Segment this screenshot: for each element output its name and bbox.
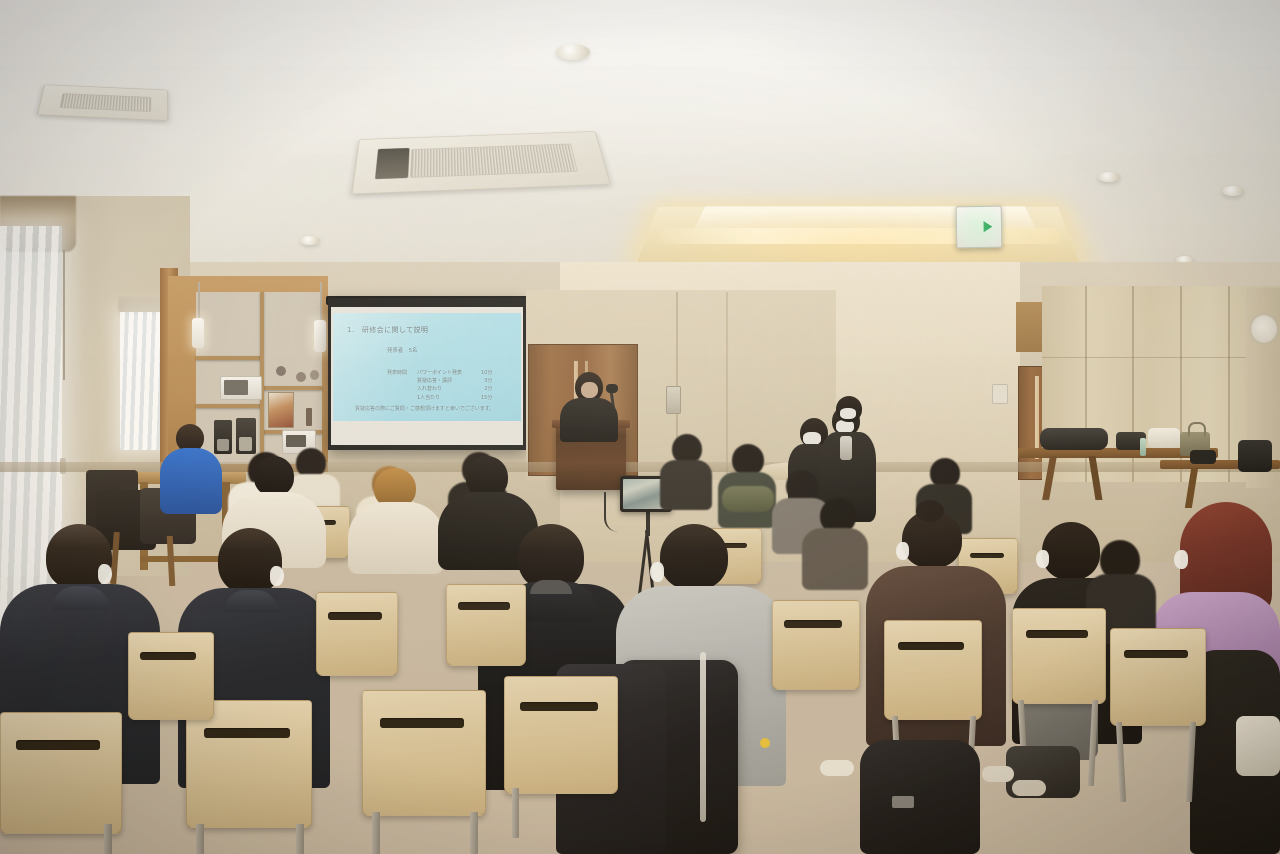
kitchenette-shelf — [196, 356, 262, 360]
audience-shawl-olive — [722, 486, 774, 512]
tote-handle — [1188, 422, 1206, 436]
white-cloth-on-bench — [1148, 428, 1180, 448]
standing-staff-2-shirt — [840, 436, 852, 460]
audience-mask-suit-2 — [270, 566, 284, 586]
chair-front-3-leg — [372, 812, 380, 854]
pendant-light-shade — [192, 318, 204, 348]
ceiling-spotlight — [300, 236, 320, 245]
backpack-strap-white — [700, 652, 706, 822]
person-blue-body — [160, 448, 222, 514]
standing-staff-3-mask — [840, 408, 856, 419]
ceramic-jar — [296, 372, 306, 382]
ceramic-jar — [276, 366, 286, 376]
audience-mask-bun — [896, 542, 909, 560]
white-handbag — [1236, 716, 1280, 776]
black-jacket-on-bench — [1040, 428, 1108, 450]
ceiling-ac-unit-large — [351, 131, 611, 194]
chair-front-2-leg — [296, 824, 304, 854]
microwave — [220, 376, 262, 400]
water-bottle — [1140, 438, 1146, 456]
wall-seam — [726, 292, 728, 480]
grey-collar — [664, 586, 724, 608]
audience-body-back — [802, 528, 868, 590]
presenter-body — [560, 398, 618, 442]
light-switch-plate[interactable] — [992, 384, 1008, 404]
photo-scene: 1. 研修会に関して説明 発表者 5名 発表時間 パワーポイント発表 質疑応答・… — [0, 0, 1280, 854]
pendant-light-cord — [198, 282, 200, 320]
chair-front-3-leg — [470, 812, 478, 854]
tripod-column — [646, 508, 650, 536]
pendant-light-cord — [320, 282, 322, 322]
ceiling-spotlight — [1098, 172, 1120, 182]
shelf-bottle — [306, 408, 312, 426]
kitchenette-shelf — [196, 404, 262, 408]
backpack-floor-left — [860, 740, 980, 854]
ceiling-ac-unit-left — [37, 84, 169, 121]
chair-front-2-leg — [196, 824, 204, 854]
audience-mask-grey — [650, 562, 664, 582]
coffee-maker-1 — [214, 420, 232, 454]
shelf-poster — [268, 392, 294, 428]
tablet-cable — [604, 492, 624, 532]
hoodie-collar-grey — [530, 580, 572, 594]
wall-intercom[interactable] — [666, 386, 681, 414]
microphone-head — [606, 384, 618, 393]
audience-head-cream — [254, 456, 294, 496]
audience-body-brownhair — [348, 502, 444, 574]
shoe — [1012, 780, 1046, 796]
ceiling-spotlight — [556, 44, 590, 60]
backpack-zip-pull — [760, 738, 770, 748]
shoe — [982, 766, 1014, 782]
hair-bun — [916, 500, 944, 522]
audience-mask-suit-1 — [98, 564, 112, 584]
dark-bag-on-bench — [1190, 450, 1216, 464]
counter-stretcher — [140, 556, 226, 562]
curtain-pull-cord — [63, 250, 65, 380]
ceiling-spotlight — [1222, 186, 1244, 196]
black-backpack-on-bench — [1238, 440, 1272, 472]
coffee-maker-2 — [236, 418, 256, 454]
audience-body-back — [660, 460, 712, 510]
presenter-face — [581, 382, 598, 398]
ceramic-jar — [310, 370, 319, 380]
pendant-light-shade — [314, 320, 326, 352]
chair-front-4-leg — [512, 788, 519, 838]
chair-front-1-leg — [104, 824, 112, 854]
shoe — [820, 760, 854, 776]
exit-sign-primary-glow — [950, 200, 1008, 254]
backpack-logo — [892, 796, 914, 808]
audience-head-grey — [660, 524, 728, 590]
wall-clock — [1250, 314, 1278, 344]
screen-glare — [333, 313, 521, 421]
audience-mask-lilac — [1174, 550, 1188, 569]
kitchenette-shelf — [262, 386, 322, 390]
cove-light-glow — [630, 210, 1085, 270]
audience-mask-blacktop — [1036, 550, 1049, 568]
audience-head-blacktop — [1042, 522, 1100, 580]
